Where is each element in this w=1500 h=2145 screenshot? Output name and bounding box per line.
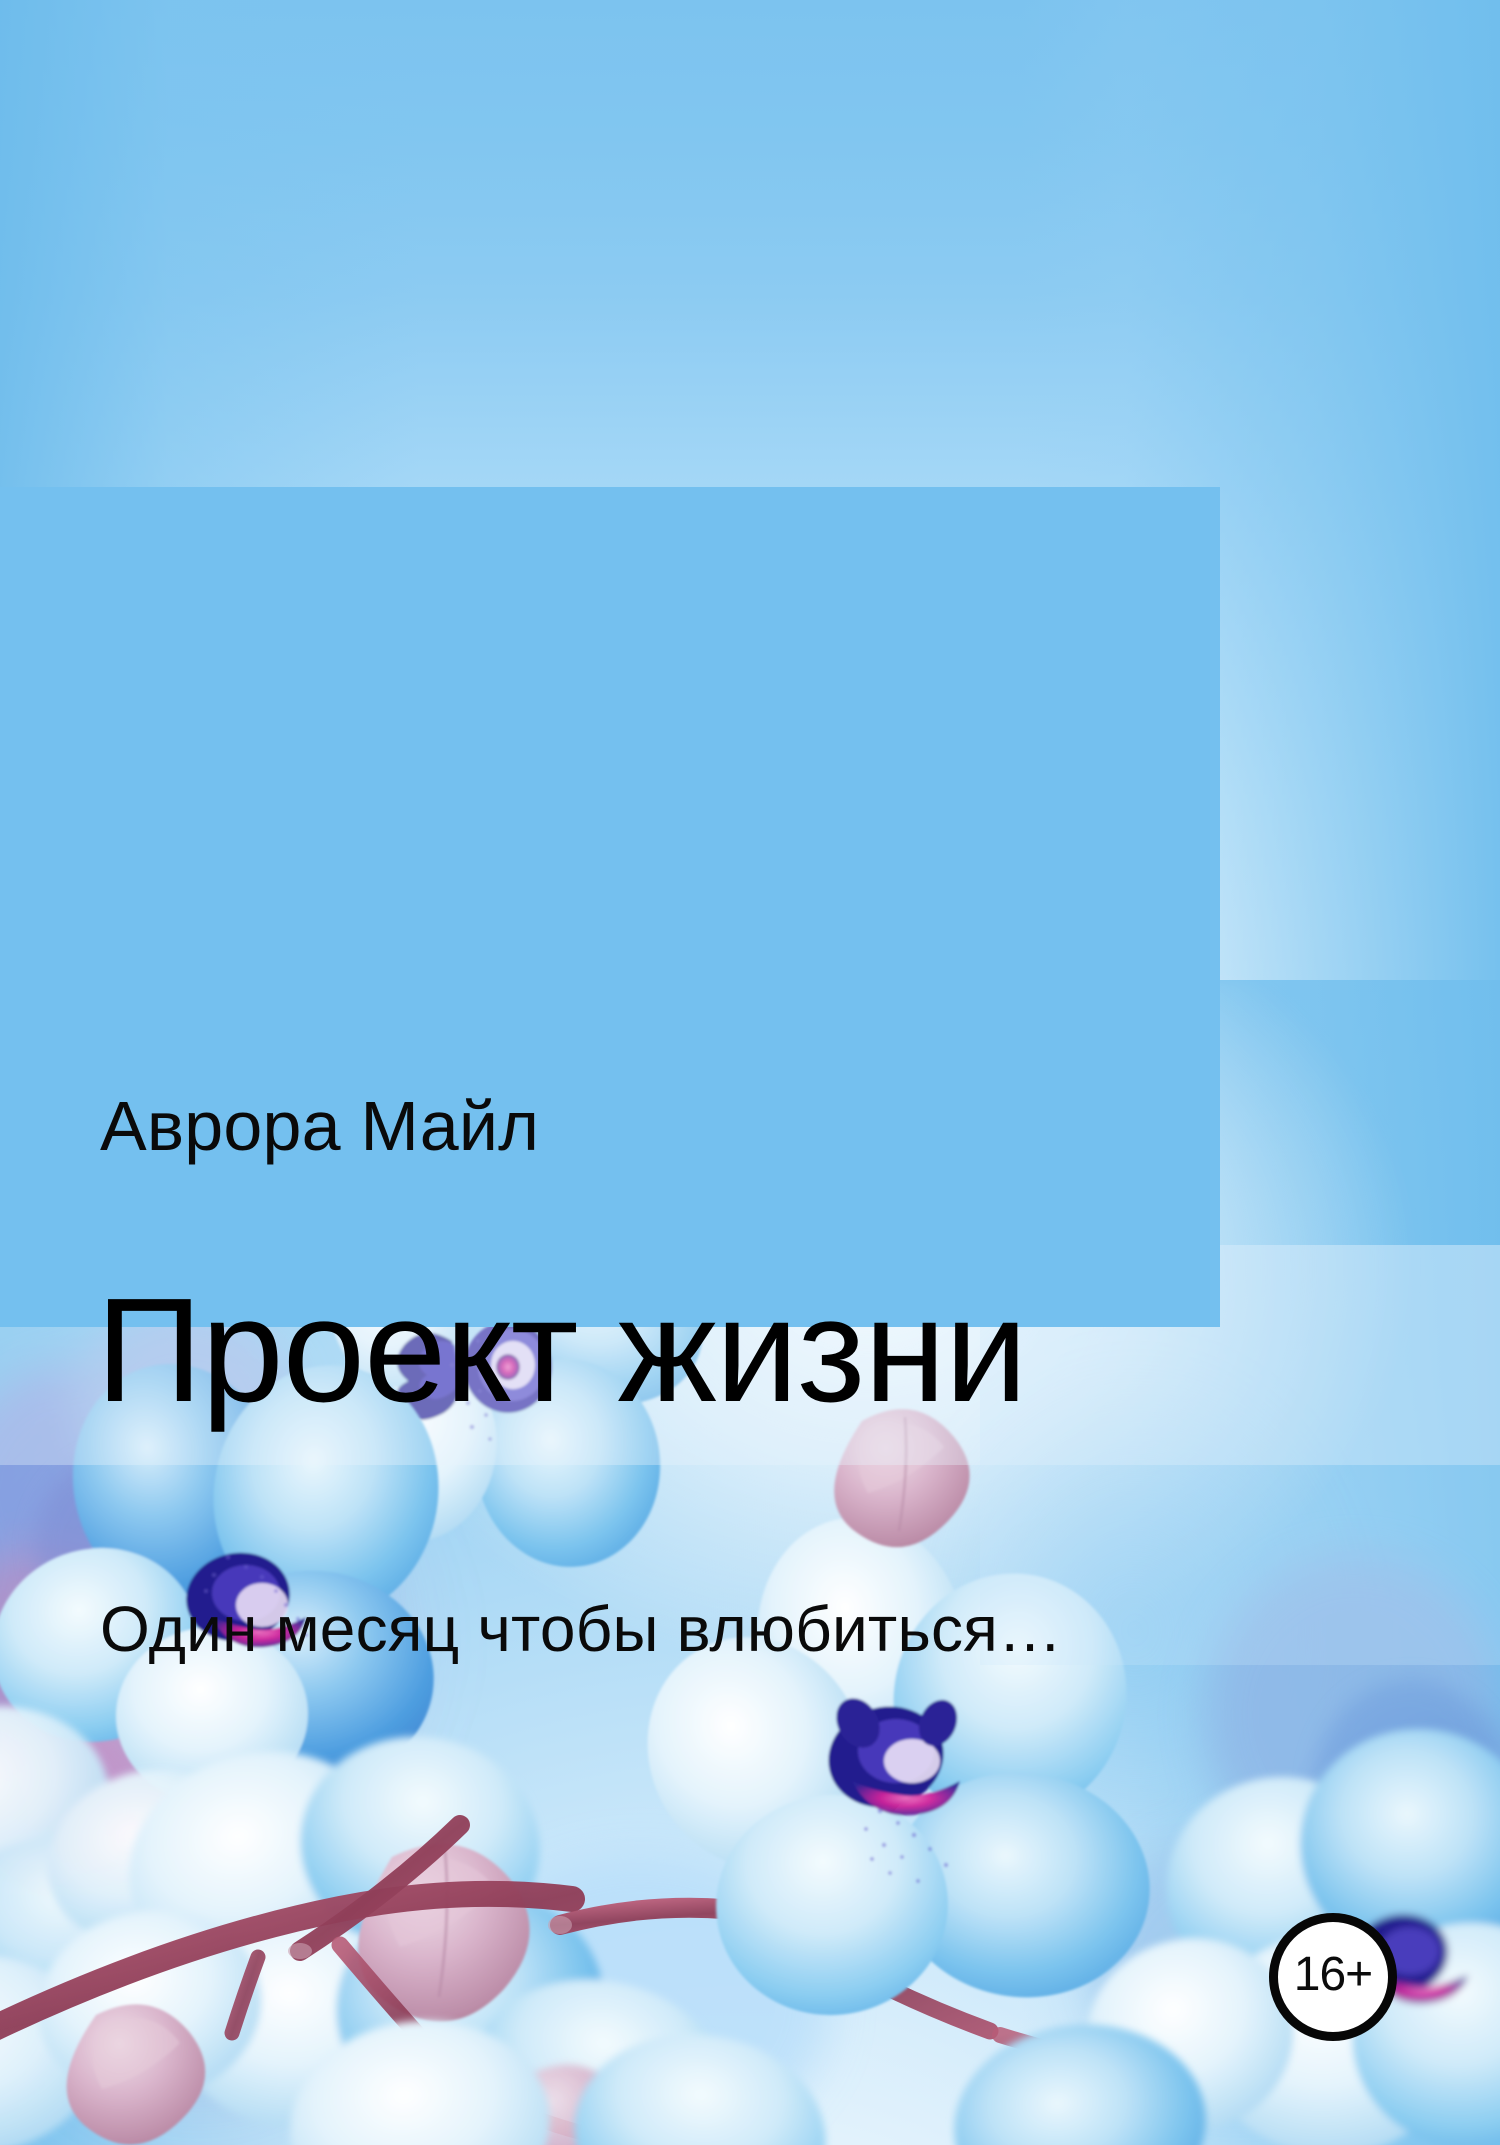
book-cover: Аврора Майл Проект жизни Один месяц чтоб… [0,0,1500,2145]
age-rating-label: 16+ [1294,1951,1372,1999]
age-rating-badge: 16+ [1269,1913,1397,2041]
page-title: Проект жизни [96,1277,1027,1425]
title-panel: Аврора Майл Проект жизни Один месяц чтоб… [0,487,1220,1327]
author-name: Аврора Майл [100,1091,539,1161]
subtitle: Один месяц чтобы влюбиться… [100,1597,1062,1661]
